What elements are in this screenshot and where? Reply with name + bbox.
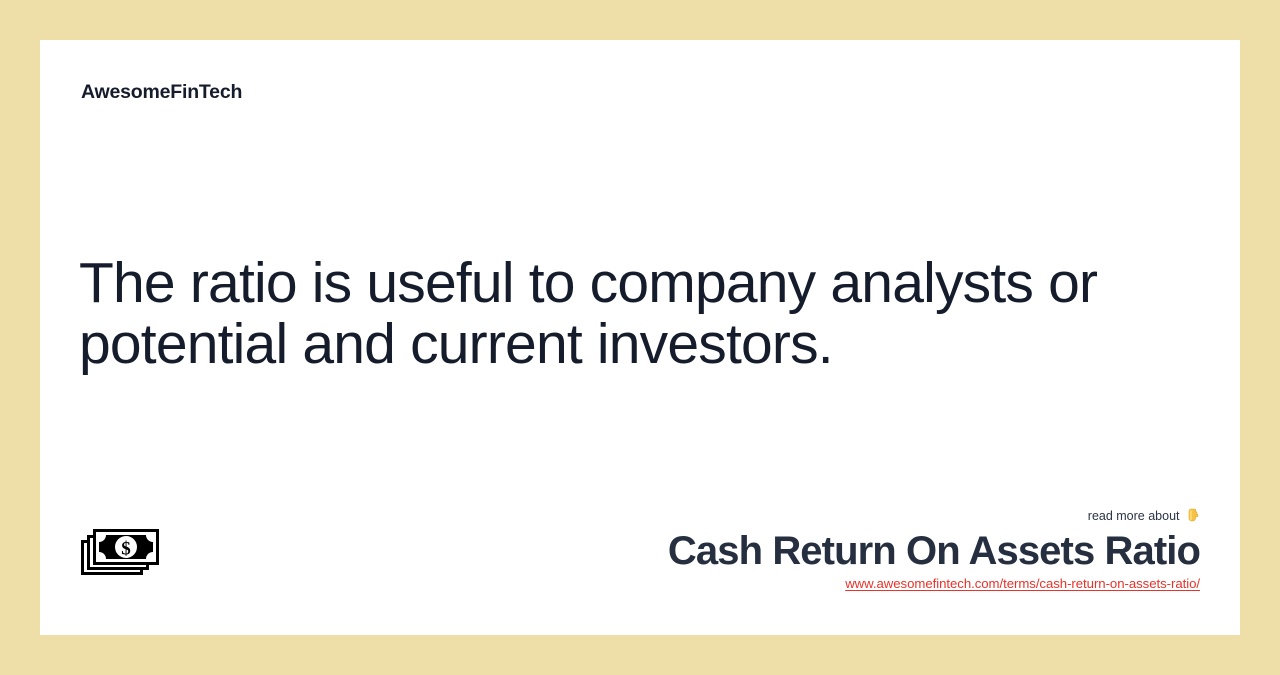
svg-text:$: $ <box>121 539 131 560</box>
card-footer: $ read more about Cash Return On Assets … <box>40 475 1240 635</box>
term-url-link[interactable]: www.awesomefintech.com/terms/cash-return… <box>845 575 1200 592</box>
term-title: Cash Return On Assets Ratio <box>668 528 1200 574</box>
read-more-label: read more about <box>1088 509 1180 523</box>
term-block: read more about Cash Return On Assets Ra… <box>668 508 1200 593</box>
read-more-row: read more about <box>668 508 1200 527</box>
page-title: The ratio is useful to company analysts … <box>79 253 1149 375</box>
page-canvas: AwesomeFinTech The ratio is useful to co… <box>0 0 1280 675</box>
banknotes-icon: $ <box>80 527 162 577</box>
brand-logo-text: AwesomeFinTech <box>81 83 242 103</box>
point-down-icon <box>1187 508 1200 527</box>
content-card: AwesomeFinTech The ratio is useful to co… <box>40 40 1240 635</box>
